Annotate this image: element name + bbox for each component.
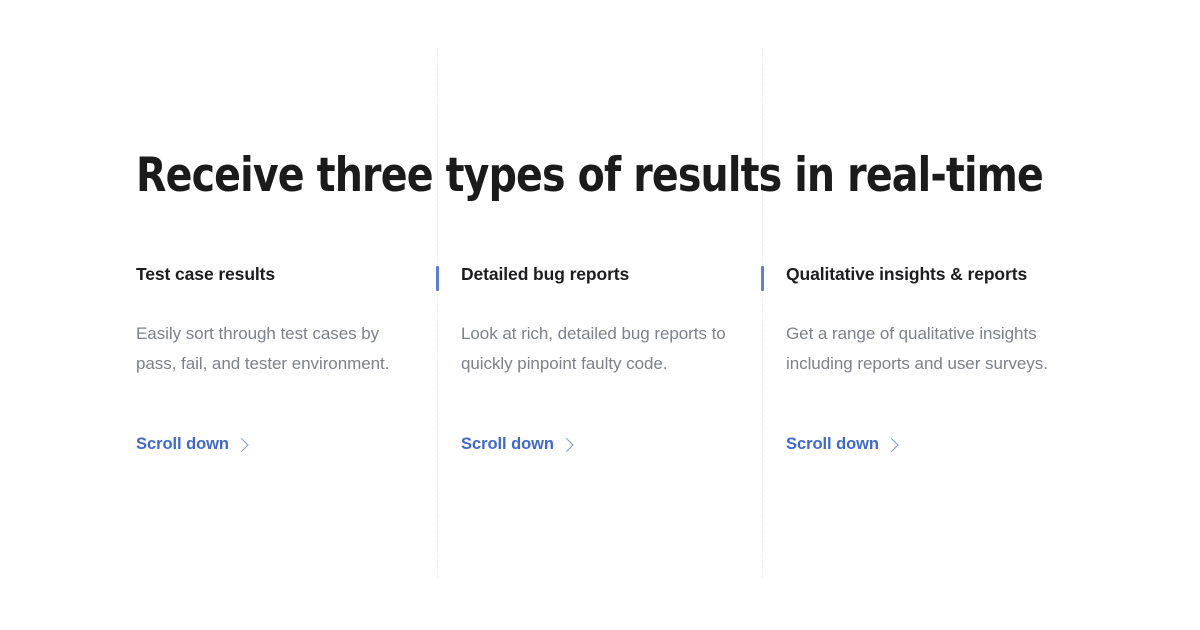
chevron-right-icon (559, 437, 573, 451)
scroll-down-label: Scroll down (461, 435, 554, 454)
chevron-right-icon (234, 437, 248, 451)
feature-column-qualitative-insights: Qualitative insights & reports Get a ran… (786, 262, 1086, 454)
feature-column-title: Qualitative insights & reports (786, 262, 1086, 286)
feature-column-body: Easily sort through test cases by pass, … (136, 286, 408, 379)
scroll-down-link-2[interactable]: Scroll down (461, 435, 573, 454)
feature-column-title: Test case results (136, 262, 436, 286)
feature-column-detailed-bug-reports: Detailed bug reports Look at rich, detai… (461, 262, 761, 454)
scroll-down-label: Scroll down (786, 435, 879, 454)
scroll-down-link-3[interactable]: Scroll down (786, 435, 898, 454)
scroll-down-label: Scroll down (136, 435, 229, 454)
chevron-right-icon (884, 437, 898, 451)
feature-column-list: Test case results Easily sort through te… (0, 0, 1200, 630)
feature-column-test-case-results: Test case results Easily sort through te… (136, 262, 436, 454)
feature-column-body: Look at rich, detailed bug reports to qu… (461, 286, 733, 379)
feature-column-title: Detailed bug reports (461, 262, 761, 286)
scroll-down-link-1[interactable]: Scroll down (136, 435, 248, 454)
feature-column-body: Get a range of qualitative insights incl… (786, 286, 1058, 379)
feature-section: Receive three types of results in real-t… (0, 0, 1200, 630)
